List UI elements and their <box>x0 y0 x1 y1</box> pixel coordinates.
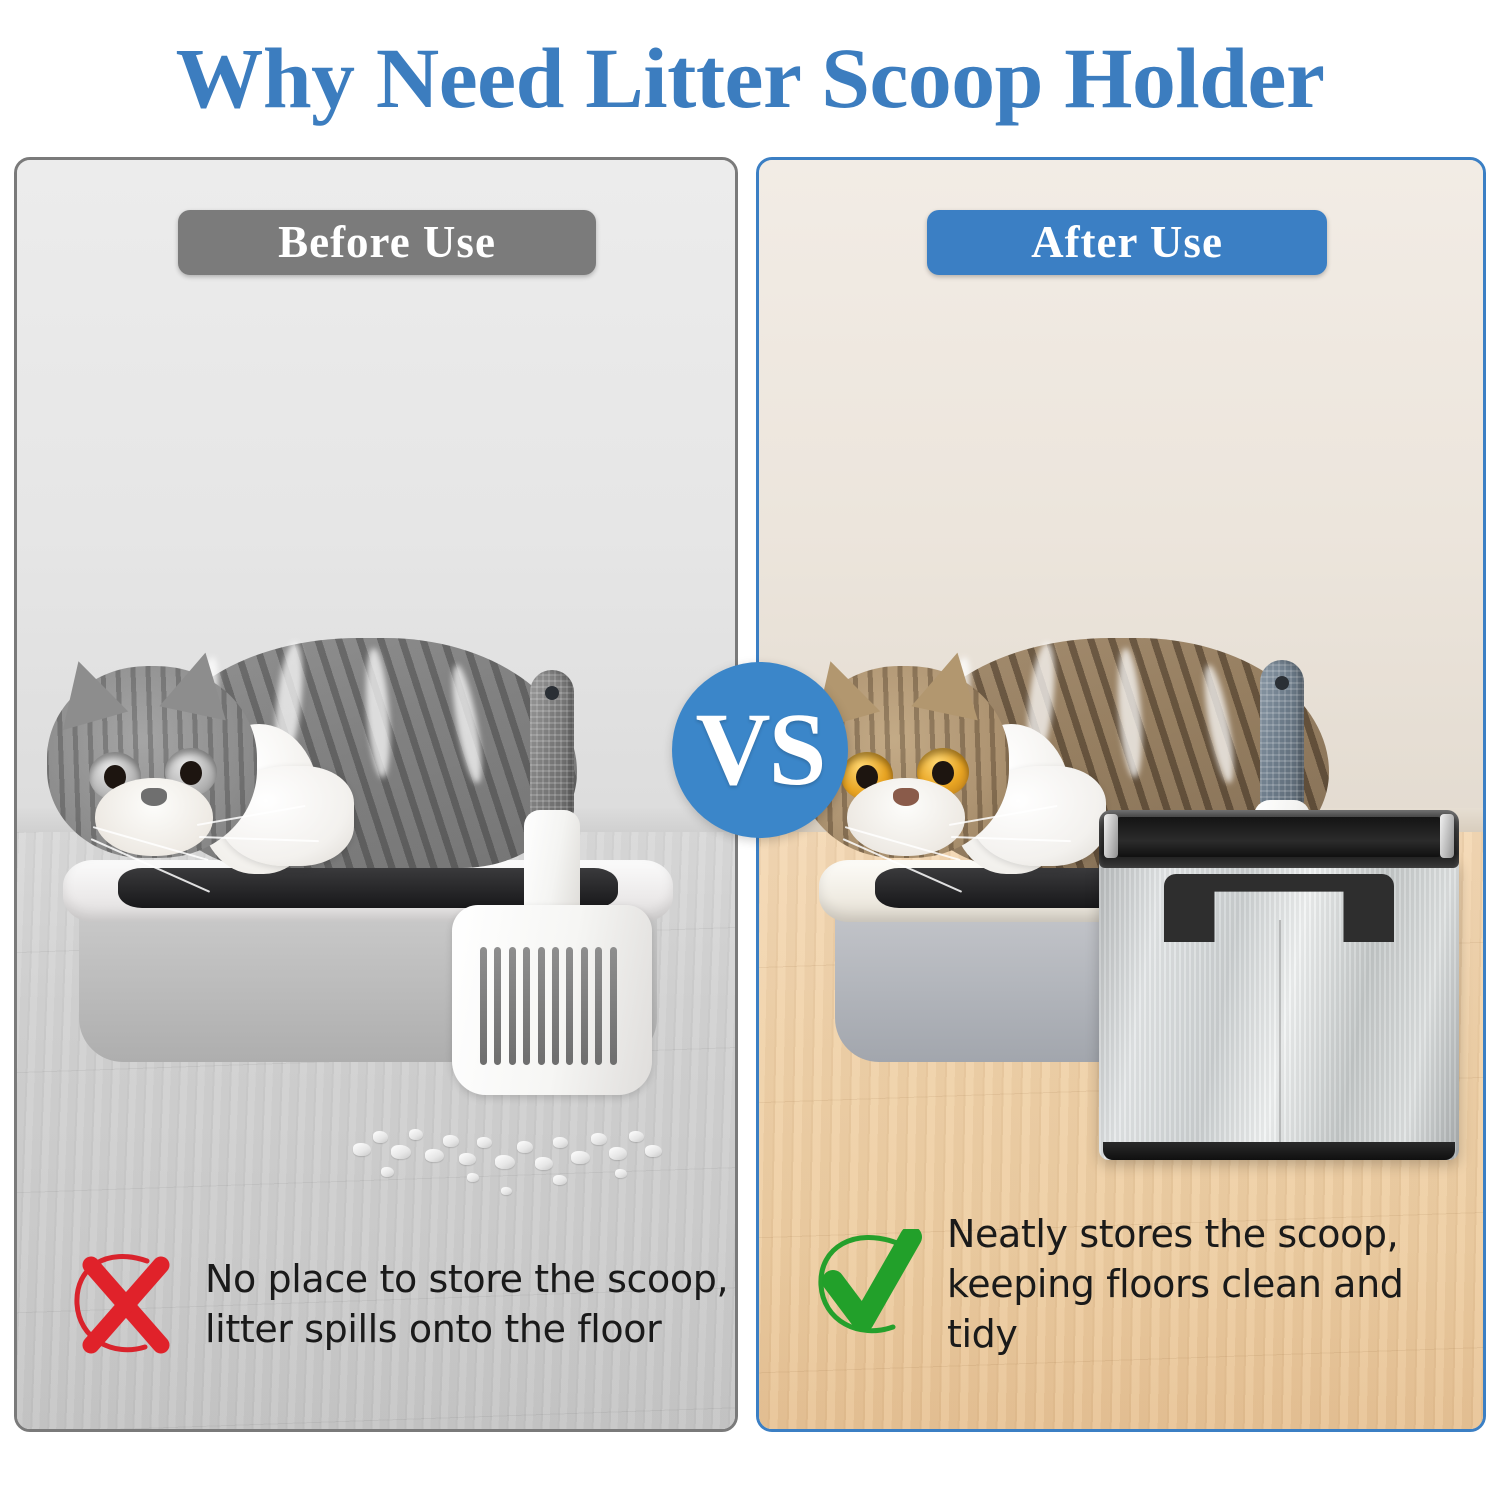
caption-after: Neatly stores the scoop, keeping floors … <box>811 1209 1483 1359</box>
cat-head <box>47 666 257 858</box>
holder-cavity <box>1113 817 1444 857</box>
vs-badge: VS <box>672 662 848 838</box>
panel-before-use: Before Use No place to store the scoop, … <box>14 157 738 1432</box>
badge-after-use: After Use <box>927 210 1327 275</box>
check-mark-icon <box>811 1229 929 1339</box>
page-title: Why Need Litter Scoop Holder <box>0 26 1500 130</box>
spilled-litter <box>347 1115 677 1205</box>
holder-seam <box>1279 920 1281 1152</box>
infographic-stage: Why Need Litter Scoop Holder <box>0 0 1500 1500</box>
scoop-slots <box>480 947 624 1065</box>
scoop-blade <box>452 905 652 1095</box>
cat-ear-left <box>46 652 128 730</box>
holder-lip-right <box>1440 814 1454 858</box>
litter-scoop-before <box>447 670 657 1110</box>
holder-lip-left <box>1104 814 1118 858</box>
scoop-hang-hole <box>1275 676 1289 690</box>
vs-label: VS <box>696 698 825 802</box>
caption-before-text: No place to store the scoop, litter spil… <box>205 1254 728 1354</box>
cat-nose <box>141 788 167 806</box>
holder-rim <box>1099 810 1459 868</box>
cat-ear-right <box>911 646 990 721</box>
scene-before: Before Use No place to store the scoop, … <box>17 160 735 1429</box>
cross-mark-icon <box>69 1249 187 1359</box>
scene-after: After Use Neatly stores the scoop, keepi… <box>759 160 1483 1429</box>
cat-ear-right <box>159 646 238 721</box>
caption-after-text: Neatly stores the scoop, keeping floors … <box>947 1209 1483 1359</box>
cat-nose <box>893 788 919 806</box>
scoop-handle <box>1260 660 1304 810</box>
holder-base <box>1103 1142 1456 1160</box>
panel-after-use: After Use Neatly stores the scoop, keepi… <box>756 157 1486 1432</box>
badge-before-use: Before Use <box>178 210 596 275</box>
scoop-hang-hole <box>545 686 559 700</box>
holder-body <box>1099 860 1459 1160</box>
scoop-handle <box>530 670 574 820</box>
caption-before: No place to store the scoop, litter spil… <box>69 1249 728 1359</box>
scoop-neck <box>524 810 580 920</box>
